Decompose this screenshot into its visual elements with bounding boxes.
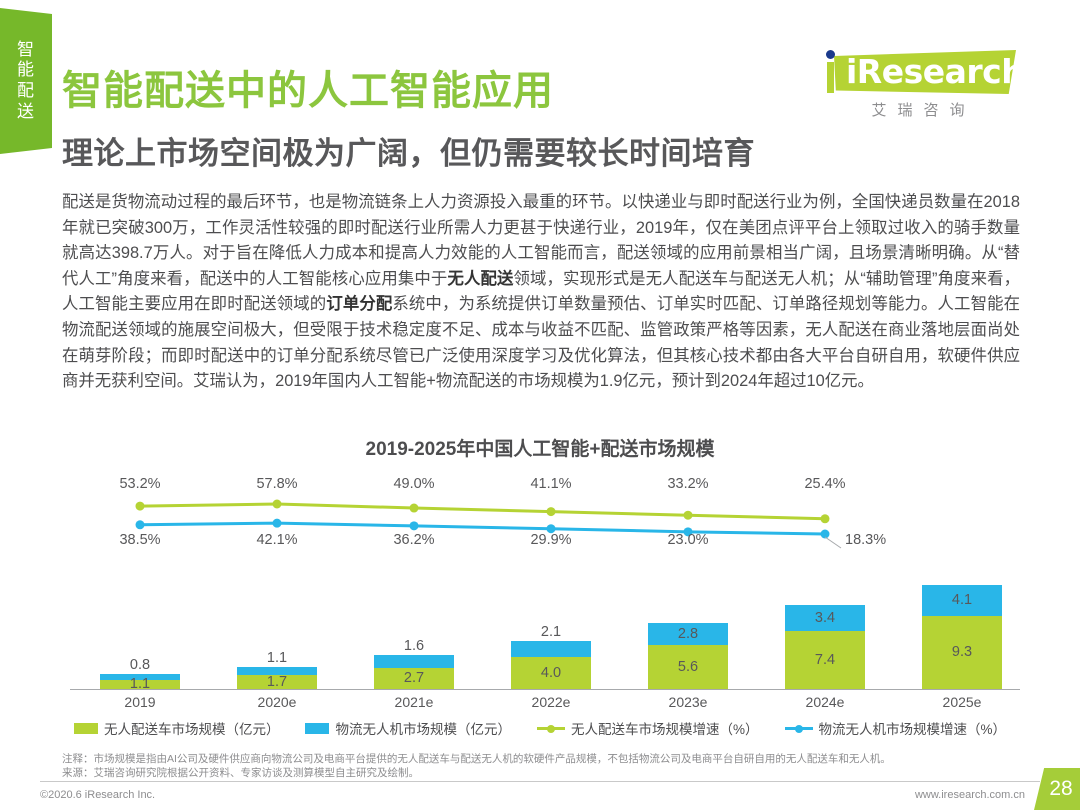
page-subtitle: 理论上市场空间极为广阔，但仍需要较长时间培育 — [62, 128, 755, 173]
bar-segment-drone: 1.6 — [374, 655, 454, 667]
growth-label-car: 49.0% — [393, 476, 434, 492]
section-tab-char-4: 送 — [17, 102, 35, 123]
growth-label-car: 41.1% — [530, 476, 571, 492]
bar-value-drone: 4.1 — [952, 592, 972, 608]
growth-label-car: 57.8% — [256, 476, 297, 492]
page-number-badge: 28 — [1034, 768, 1080, 810]
growth-label-drone: 36.2% — [393, 532, 434, 548]
legend-item[interactable]: 无人配送车市场规模（亿元） — [74, 718, 280, 738]
x-axis-label: 2019 — [124, 694, 155, 710]
growth-label-drone: 18.3% — [845, 532, 886, 548]
bar-column: 2.85.6 — [648, 623, 728, 688]
bar-value-drone: 0.8 — [130, 657, 150, 673]
logo-wordmark: iResearch — [846, 52, 1024, 92]
growth-label-drone: 29.9% — [530, 532, 571, 548]
x-axis-label: 2025e — [943, 694, 982, 710]
legend-swatch-icon — [305, 723, 329, 734]
iresearch-logo: iResearch 艾瑞咨询 — [818, 46, 1018, 120]
bar-column: 1.11.7 — [237, 667, 317, 689]
bar-value-drone: 1.6 — [404, 638, 424, 654]
bar-segment-car: 9.3 — [922, 616, 1002, 688]
bar-column: 2.14.0 — [511, 641, 591, 688]
logo-chinese-name: 艾瑞咨询 — [818, 99, 1018, 120]
bar-column: 0.81.1 — [100, 674, 180, 689]
chart-notes: 注释：市场规模是指由AI公司及硬件供应商向物流公司及电商平台提供的无人配送车与配… — [62, 752, 1020, 780]
bar-value-car: 1.1 — [130, 676, 150, 692]
growth-label-car: 33.2% — [667, 476, 708, 492]
bar-value-car: 7.4 — [815, 652, 835, 668]
bar-column: 4.19.3 — [922, 585, 1002, 689]
section-tab-char-2: 能 — [17, 60, 35, 81]
bar-value-car: 4.0 — [541, 665, 561, 681]
logo-mark: iResearch — [818, 46, 1018, 96]
bar-column: 3.47.4 — [785, 605, 865, 689]
legend-item[interactable]: 无人配送车市场规模增速（%） — [537, 718, 759, 738]
stacked-bars: 0.81.11.11.71.62.72.14.02.85.63.47.44.19… — [62, 570, 1020, 690]
source-line: 来源：艾瑞咨询研究院根据公开资料、专家访谈及测算模型自主研究及绘制。 — [62, 766, 1020, 780]
bar-segment-car: 7.4 — [785, 631, 865, 688]
legend-swatch-icon — [537, 723, 565, 734]
legend-item[interactable]: 物流无人机市场规模增速（%） — [785, 718, 1007, 738]
x-axis-label: 2024e — [806, 694, 845, 710]
logo-i-dot-icon — [826, 50, 835, 59]
bar-segment-drone: 4.1 — [922, 585, 1002, 617]
chart-title: 2019-2025年中国人工智能+配送市场规模 — [0, 434, 1080, 461]
bar-segment-drone: 2.8 — [648, 623, 728, 645]
legend-item[interactable]: 物流无人机市场规模（亿元） — [305, 718, 511, 738]
growth-label-drone: 38.5% — [119, 532, 160, 548]
footer-website: www.iresearch.com.cn — [915, 789, 1025, 801]
growth-label-drone: 23.0% — [667, 532, 708, 548]
footer-divider — [40, 781, 1040, 782]
chart-legend: 无人配送车市场规模（亿元）物流无人机市场规模（亿元）无人配送车市场规模增速（%）… — [0, 718, 1080, 738]
body-paragraph: 配送是货物流动过程的最后环节，也是物流链条上人力资源投入最重的环节。以快递业与即… — [62, 190, 1020, 395]
bar-value-drone: 2.1 — [541, 624, 561, 640]
section-tab-char-1: 智 — [17, 40, 35, 61]
bar-segment-car: 2.7 — [374, 668, 454, 689]
bar-value-drone: 2.8 — [678, 626, 698, 642]
bar-segment-drone: 3.4 — [785, 605, 865, 631]
growth-label-car: 53.2% — [119, 476, 160, 492]
legend-swatch-icon — [785, 723, 813, 734]
bar-value-drone: 1.1 — [267, 650, 287, 666]
bar-segment-car: 1.7 — [237, 675, 317, 688]
growth-label-drone: 42.1% — [256, 532, 297, 548]
legend-swatch-icon — [74, 723, 98, 734]
footer-copyright: ©2020.6 iResearch Inc. — [40, 789, 155, 801]
legend-label: 物流无人机市场规模（亿元） — [335, 718, 511, 738]
growth-line-area: 53.2%57.8%49.0%41.1%33.2%25.4%38.5%42.1%… — [62, 470, 1020, 560]
section-tab: 智 能 配 送 — [0, 8, 52, 154]
legend-label: 物流无人机市场规模增速（%） — [819, 718, 1007, 738]
x-axis-label: 2022e — [532, 694, 571, 710]
market-size-chart: 53.2%57.8%49.0%41.1%33.2%25.4%38.5%42.1%… — [62, 470, 1020, 710]
bar-segment-car: 5.6 — [648, 645, 728, 688]
growth-label-car: 25.4% — [804, 476, 845, 492]
bar-value-car: 2.7 — [404, 670, 424, 686]
x-axis-line — [70, 689, 1020, 691]
bar-segment-car: 4.0 — [511, 657, 591, 688]
section-tab-char-3: 配 — [17, 81, 35, 102]
x-axis-label: 2020e — [258, 694, 297, 710]
bar-value-car: 9.3 — [952, 644, 972, 660]
x-axis-labels: 20192020e2021e2022e2023e2024e2025e — [62, 694, 1020, 714]
bar-value-car: 1.7 — [267, 674, 287, 690]
x-axis-label: 2023e — [669, 694, 708, 710]
bar-value-car: 5.6 — [678, 659, 698, 675]
bar-segment-car: 1.1 — [100, 680, 180, 689]
logo-i-stem — [827, 62, 834, 93]
bar-column: 1.62.7 — [374, 655, 454, 688]
bar-value-drone: 3.4 — [815, 610, 835, 626]
note-line: 注释：市场规模是指由AI公司及硬件供应商向物流公司及电商平台提供的无人配送车与配… — [62, 752, 1020, 766]
legend-label: 无人配送车市场规模（亿元） — [104, 718, 280, 738]
bar-segment-drone: 2.1 — [511, 641, 591, 657]
legend-label: 无人配送车市场规模增速（%） — [571, 718, 759, 738]
x-axis-label: 2021e — [395, 694, 434, 710]
page-title: 智能配送中的人工智能应用 — [62, 58, 554, 116]
